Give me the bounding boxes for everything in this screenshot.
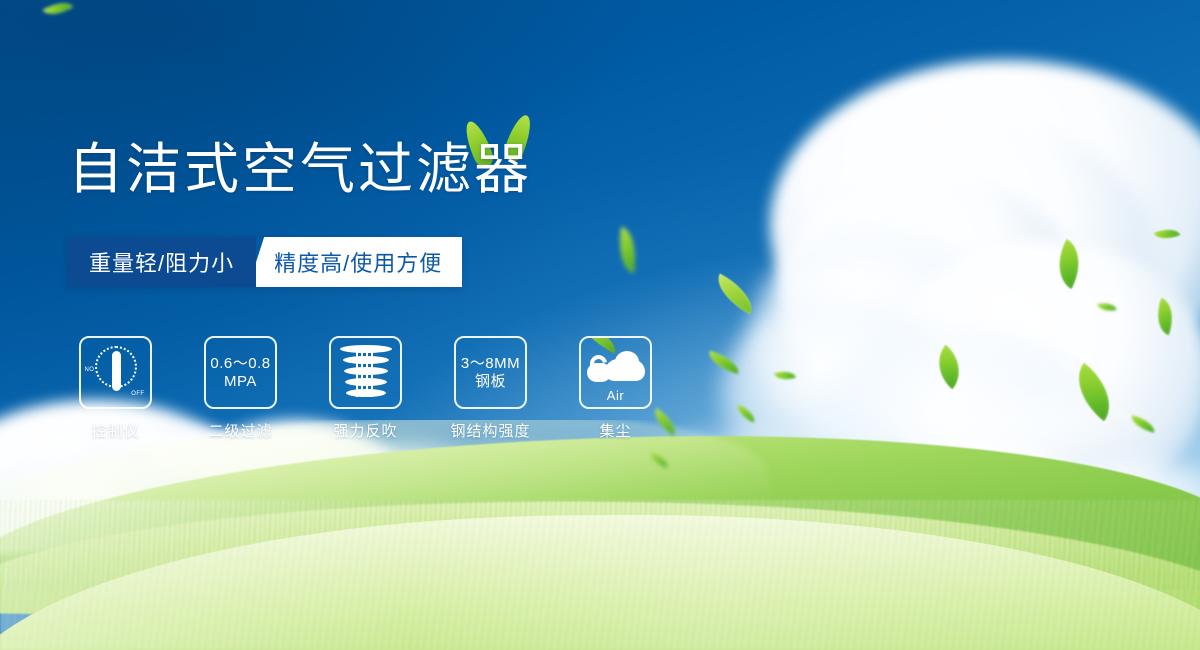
steel-material: 钢板: [461, 373, 520, 391]
floating-leaf: [774, 367, 796, 384]
floating-leaf: [1150, 298, 1180, 336]
cloud-wisp: [640, 420, 840, 480]
floating-leaf: [710, 273, 761, 314]
pressure-value: 0.6～0.8: [210, 355, 270, 372]
gauge-icon: NO OFF: [86, 343, 146, 403]
steel-thickness: 3～8MM: [461, 355, 520, 372]
floating-leaf: [734, 404, 759, 423]
floating-leaf: [1129, 415, 1157, 433]
gauge-label-off: OFF: [131, 391, 144, 397]
stacked-disc-backflow-icon: [340, 345, 392, 401]
cloud-body: [605, 359, 645, 381]
cloud-puff: [770, 60, 1200, 390]
cloud-puff: [1010, 460, 1200, 610]
floating-leaf: [43, 0, 74, 21]
cloud-puff: [60, 430, 320, 595]
feature-label: 控制仪: [91, 420, 139, 441]
disc-ribs: [356, 349, 376, 397]
pressure-unit: MPA: [210, 373, 270, 391]
feature-icon-box: [329, 336, 402, 409]
cloud-puff: [400, 455, 620, 595]
cloud-puff: [810, 330, 1110, 550]
feature-item-controller: NO OFF 控制仪: [79, 336, 152, 441]
cloud-puff: [290, 445, 520, 595]
cloud-puff: [840, 440, 1130, 610]
feature-item-backflow: 强力反吹: [329, 336, 402, 441]
grass-hill-near: [0, 508, 1200, 650]
floating-leaf: [706, 351, 743, 375]
grass-field: [0, 420, 1200, 650]
cloud-puff: [560, 470, 790, 610]
feature-item-dust-collection: Air 集尘: [579, 336, 652, 441]
cloud-wisp: [900, 380, 1160, 470]
floating-leaf: [647, 452, 671, 469]
page-title: 自洁式空气过滤器: [68, 140, 532, 198]
feature-icon-box: 3～8MM 钢板: [454, 336, 527, 409]
cloud-puff: [0, 455, 220, 605]
cloud-puff: [690, 455, 950, 610]
cloud-puff: [800, 120, 1160, 420]
floating-leaf: [1154, 224, 1181, 244]
cloud-puff: [170, 420, 420, 600]
product-banner: 自洁式空气过滤器 重量轻/阻力小 精度高/使用方便 NO OFF 控制仪 0.6…: [0, 0, 1200, 650]
cloud-puff: [620, 500, 820, 615]
pressure-text-icon: 0.6～0.8 MPA: [210, 355, 270, 390]
subtitle-bar: 重量轻/阻力小 精度高/使用方便: [67, 237, 462, 287]
grass-hill-mid: [0, 493, 1200, 632]
subtitle-left-panel: 重量轻/阻力小: [67, 237, 256, 287]
floating-leaf: [926, 345, 971, 390]
feature-label: 强力反吹: [333, 420, 397, 441]
grass-texture: [0, 500, 1200, 590]
grass-sheen: [0, 500, 1200, 650]
feature-label: 集尘: [599, 420, 631, 441]
sky-gradient: [0, 0, 1200, 650]
feature-label: 二级过滤: [208, 420, 272, 441]
air-cloud-icon: Air: [585, 345, 647, 401]
cloud-puff: [880, 240, 1200, 510]
feature-item-two-stage-filtration: 0.6～0.8 MPA 二级过滤: [204, 336, 277, 441]
gauge-label-no: NO: [85, 367, 95, 373]
feature-icon-box: Air: [579, 336, 652, 409]
feature-list: NO OFF 控制仪 0.6～0.8 MPA 二级过滤: [79, 336, 652, 441]
air-label: Air: [585, 388, 647, 403]
floating-leaf: [1063, 363, 1125, 422]
floating-leaf: [1097, 300, 1117, 314]
feature-icon-box: NO OFF: [79, 336, 152, 409]
cloud-puff: [720, 300, 950, 490]
steel-plate-text-icon: 3～8MM 钢板: [461, 355, 520, 390]
feature-label: 钢结构强度: [451, 420, 531, 441]
cloud-wisp: [760, 250, 940, 320]
cloud-puff: [750, 230, 1000, 445]
subtitle-right-panel: 精度高/使用方便: [248, 237, 462, 287]
cloud-puff: [780, 175, 1080, 415]
grass-hill-far: [0, 420, 1200, 606]
feature-icon-box: 0.6～0.8 MPA: [204, 336, 277, 409]
gauge-needle: [112, 351, 121, 391]
floating-leaf: [649, 408, 682, 436]
floating-leaf: [615, 227, 640, 273]
feature-item-steel-strength: 3～8MM 钢板 钢结构强度: [454, 336, 527, 441]
floating-leaf: [1047, 239, 1091, 289]
